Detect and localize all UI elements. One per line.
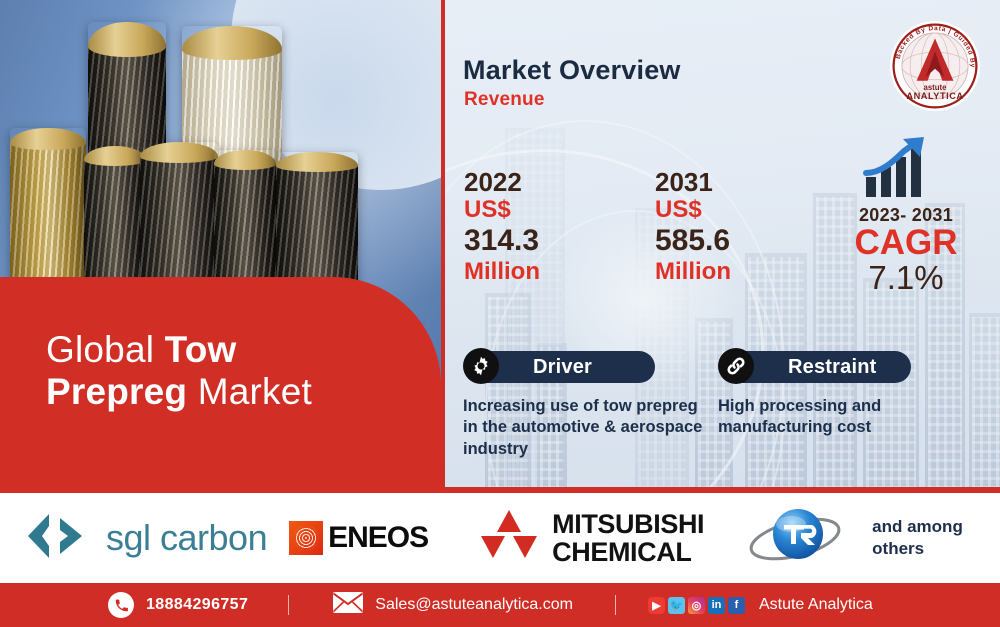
title-suffix: Market bbox=[187, 371, 312, 412]
among-line2: others bbox=[872, 539, 924, 558]
spool-dark-front-c bbox=[214, 150, 276, 292]
overview-title: Market Overview bbox=[463, 55, 681, 86]
spool-dark-front-a bbox=[84, 146, 146, 291]
logo-mitsubishi-chemical: MITSUBISHI CHEMICAL bbox=[478, 508, 704, 569]
logo-tcr bbox=[746, 503, 844, 574]
linkedin-icon[interactable]: in bbox=[708, 597, 725, 614]
sgl-chevron-icon bbox=[16, 510, 94, 567]
logo-eneos: ENEOS bbox=[289, 521, 428, 555]
footer-separator-2 bbox=[615, 595, 616, 615]
spool-dark-front-b bbox=[140, 142, 218, 292]
restraint-text: High processing and manufacturing cost bbox=[718, 396, 958, 439]
stat-2031: 2031 US$ 585.6 Million bbox=[655, 168, 731, 286]
stat-value: 585.6 bbox=[655, 224, 731, 258]
spool-body bbox=[276, 163, 358, 294]
stat-unit: Million bbox=[655, 258, 731, 285]
stat-currency: US$ bbox=[655, 197, 731, 224]
instagram-icon[interactable]: ◎ bbox=[688, 597, 705, 614]
astute-analytica-logo: Backed By Data | Guided By Intelligence … bbox=[889, 20, 981, 112]
title-bold-tow: Tow bbox=[165, 329, 237, 370]
title-bold-prepreg: Prepreg bbox=[46, 371, 187, 412]
spool-cap bbox=[182, 26, 282, 60]
gear-icon bbox=[463, 348, 499, 384]
eneos-wordmark: ENEOS bbox=[328, 521, 428, 555]
mitsubishi-line1: MITSUBISHI bbox=[552, 509, 704, 539]
stat-year: 2022 bbox=[464, 168, 540, 197]
mitsubishi-wordmark: MITSUBISHI CHEMICAL bbox=[552, 510, 704, 566]
driver-text: Increasing use of tow prepreg in the aut… bbox=[463, 396, 708, 460]
restraint-badge: Restraint bbox=[736, 351, 911, 383]
overview-subtitle: Revenue bbox=[464, 89, 545, 111]
chain-link-icon bbox=[718, 348, 754, 384]
sgl-carbon-wordmark: sgl carbon bbox=[106, 517, 267, 559]
eneos-square-icon bbox=[289, 521, 323, 555]
and-among-others-label: and among others bbox=[872, 516, 963, 560]
cagr-block: 2023- 2031 CAGR 7.1% bbox=[826, 205, 986, 295]
driver-badge: Driver bbox=[481, 351, 655, 383]
restraint-block: Restraint High processing and manufactur… bbox=[718, 348, 958, 439]
title-card: Global Tow Prepreg Market bbox=[0, 277, 441, 493]
stat-year: 2031 bbox=[655, 168, 731, 197]
stat-2022: 2022 US$ 314.3 Million bbox=[464, 168, 540, 286]
panel-divider bbox=[441, 0, 445, 493]
spool-body bbox=[10, 141, 86, 288]
badge-name-large: ANALYTICA bbox=[906, 91, 963, 101]
stat-currency: US$ bbox=[464, 197, 540, 224]
stat-value: 314.3 bbox=[464, 224, 540, 258]
title-prefix: Global bbox=[46, 329, 165, 370]
page-title: Global Tow Prepreg Market bbox=[46, 329, 411, 413]
spool-body bbox=[214, 161, 276, 292]
client-logo-strip: sgl carbon ENEOS MITSUBISHI CHEMICAL bbox=[0, 493, 1000, 583]
youtube-icon[interactable]: ▶ bbox=[648, 597, 665, 614]
driver-block: Driver Increasing use of tow prepreg in … bbox=[463, 348, 708, 460]
cagr-label: CAGR bbox=[826, 225, 986, 261]
envelope-icon bbox=[333, 592, 363, 618]
footer-contact-bar: 18884296757 Sales@astuteanalytica.com ▶ … bbox=[0, 583, 1000, 627]
footer-brand-name: Astute Analytica bbox=[759, 596, 873, 614]
logo-sgl-carbon: sgl carbon bbox=[16, 510, 267, 567]
spool-dark-front-d bbox=[276, 152, 358, 294]
spool-cap bbox=[214, 150, 276, 170]
spool-cap bbox=[10, 128, 86, 150]
left-panel: Global Tow Prepreg Market bbox=[0, 0, 441, 493]
phone-icon bbox=[108, 592, 134, 618]
building bbox=[969, 313, 1000, 493]
spool-cap bbox=[84, 146, 146, 166]
footer-social-group: ▶ 🐦 ◎ in f Astute Analytica bbox=[648, 596, 873, 614]
spool-gold-left bbox=[10, 128, 86, 288]
twitter-icon[interactable]: 🐦 bbox=[668, 597, 685, 614]
spool-cap bbox=[88, 22, 166, 57]
spool-body bbox=[84, 158, 146, 291]
mitsubishi-three-diamonds-icon bbox=[478, 508, 540, 569]
footer-email[interactable]: Sales@astuteanalytica.com bbox=[333, 592, 573, 618]
eneos-rings bbox=[294, 526, 318, 550]
restraint-header: Restraint bbox=[718, 348, 958, 386]
among-line1: and among bbox=[872, 517, 963, 536]
facebook-icon[interactable]: f bbox=[728, 597, 745, 614]
growth-bar-chart-arrow-icon bbox=[862, 137, 934, 204]
driver-header: Driver bbox=[463, 348, 708, 386]
restraint-badge-label: Restraint bbox=[788, 356, 877, 379]
footer-separator-1 bbox=[288, 595, 289, 615]
spool-cap bbox=[140, 142, 218, 163]
footer-phone[interactable]: 18884296757 bbox=[108, 592, 248, 618]
driver-badge-label: Driver bbox=[533, 356, 592, 379]
footer-email-address: Sales@astuteanalytica.com bbox=[375, 596, 573, 614]
spool-cap bbox=[276, 152, 358, 172]
tcr-sphere-icon bbox=[746, 503, 844, 574]
spool-body bbox=[140, 154, 218, 292]
social-icons: ▶ 🐦 ◎ in f bbox=[648, 597, 745, 614]
cagr-value: 7.1% bbox=[826, 261, 986, 296]
footer-phone-number: 18884296757 bbox=[146, 596, 248, 614]
stat-unit: Million bbox=[464, 258, 540, 285]
infographic-canvas: Global Tow Prepreg Market Market Overvie… bbox=[0, 0, 1000, 627]
mitsubishi-line2: CHEMICAL bbox=[552, 537, 691, 567]
